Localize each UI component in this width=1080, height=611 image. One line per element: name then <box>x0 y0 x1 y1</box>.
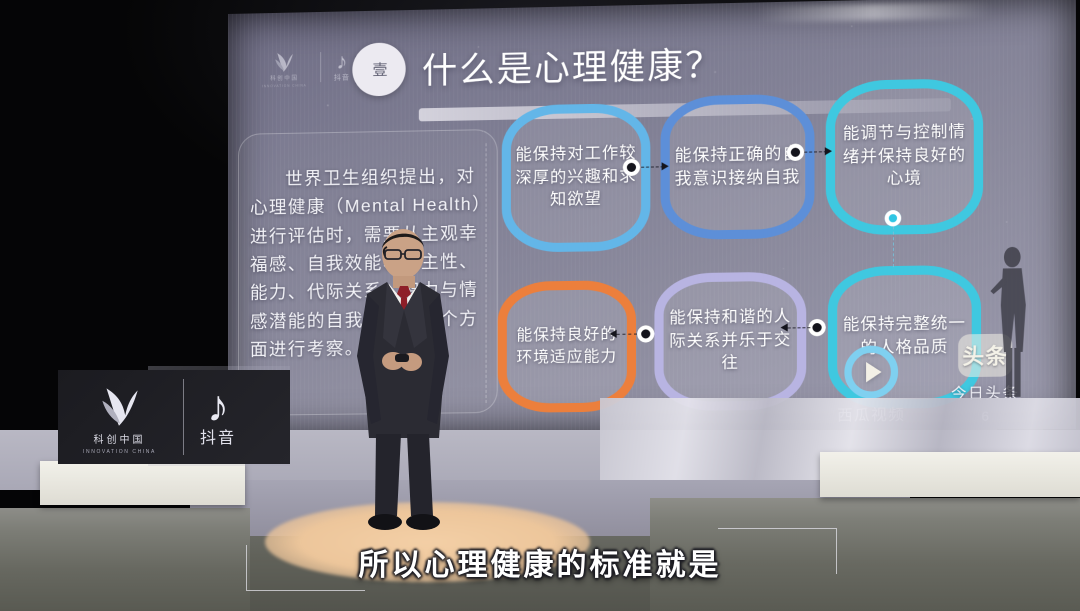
slide-title: 什么是心理健康？ <box>422 37 723 95</box>
pedestal-right <box>820 452 1080 497</box>
cloud-box-self-awareness: 能保持正确的自我意识接纳自我 <box>661 94 815 241</box>
douyin-logo-label: 抖音 <box>334 75 350 82</box>
music-note-icon: ♪ <box>336 52 347 72</box>
douyin-logo: ♪ 抖音 <box>334 52 350 82</box>
board-kechuang-cn: 科创中国 <box>94 436 146 446</box>
connector-arrow-4 <box>610 330 617 338</box>
pedestal-left <box>40 461 245 505</box>
cloud-box-self-awareness-label: 能保持正确的自我意识接纳自我 <box>670 142 805 192</box>
kechuang-logo: 科创中国 INNOVATION CHINA <box>262 48 307 88</box>
cloud-box-emotion-control-label: 能调节与控制情绪并保持良好的心境 <box>835 121 974 192</box>
board-kechuang-en: INNOVATION CHINA <box>83 450 156 455</box>
connector-arrow-2 <box>825 147 832 155</box>
board-kechuang-logo: 科创中国 INNOVATION CHINA <box>72 380 167 455</box>
connector-arrow-1 <box>662 162 669 170</box>
screen-sponsor-bar: 科创中国 INNOVATION CHINA ♪ 抖音 <box>262 47 350 88</box>
stage-silhouette-figure <box>987 246 1035 402</box>
board-music-note-icon: ♪ <box>207 387 229 427</box>
board-douyin-label: 抖音 <box>200 431 236 447</box>
video-frame: 科创中国 INNOVATION CHINA ♪ 抖音 壹 什么是心理健康？ 世界… <box>0 0 1080 611</box>
cloud-box-relationship: 能保持和谐的人际关系并乐于交往 <box>654 271 806 411</box>
subtitle-text: 所以心理健康的标准就是 <box>359 540 722 584</box>
section-number-badge: 壹 <box>352 42 405 96</box>
slide-title-row: 壹 什么是心理健康？ <box>352 36 723 97</box>
cloud-box-work-interest-label: 能保持对工作较深厚的兴趣和求知欲望 <box>511 143 641 213</box>
connector-arrow-3 <box>781 323 788 331</box>
subtitle-bar: 所以心理健康的标准就是 <box>0 540 1080 584</box>
panel-dashed-divider <box>486 143 487 403</box>
cloud-box-adaptability: 能保持良好的环境适应能力 <box>498 280 636 413</box>
cloud-box-emotion-control: 能调节与控制情绪并保持良好的心境 <box>826 78 983 235</box>
cloud-box-work-interest: 能保持对工作较深厚的兴趣和求知欲望 <box>502 103 651 253</box>
board-kechuang-bird-icon <box>92 380 148 432</box>
xigua-play-icon <box>844 345 898 399</box>
kechuang-logo-cn: 科创中国 <box>270 77 298 83</box>
speaker-figure <box>345 228 465 533</box>
kechuang-bird-icon <box>271 49 297 76</box>
connector-line-vertical <box>893 226 894 267</box>
cloud-box-relationship-label: 能保持和谐的人际关系并乐于交往 <box>664 306 797 377</box>
board-douyin-logo: ♪ 抖音 <box>200 387 236 448</box>
sponsor-board: 科创中国 INNOVATION CHINA ♪ 抖音 <box>58 370 290 464</box>
board-divider <box>183 379 184 455</box>
sponsor-divider <box>320 52 321 82</box>
